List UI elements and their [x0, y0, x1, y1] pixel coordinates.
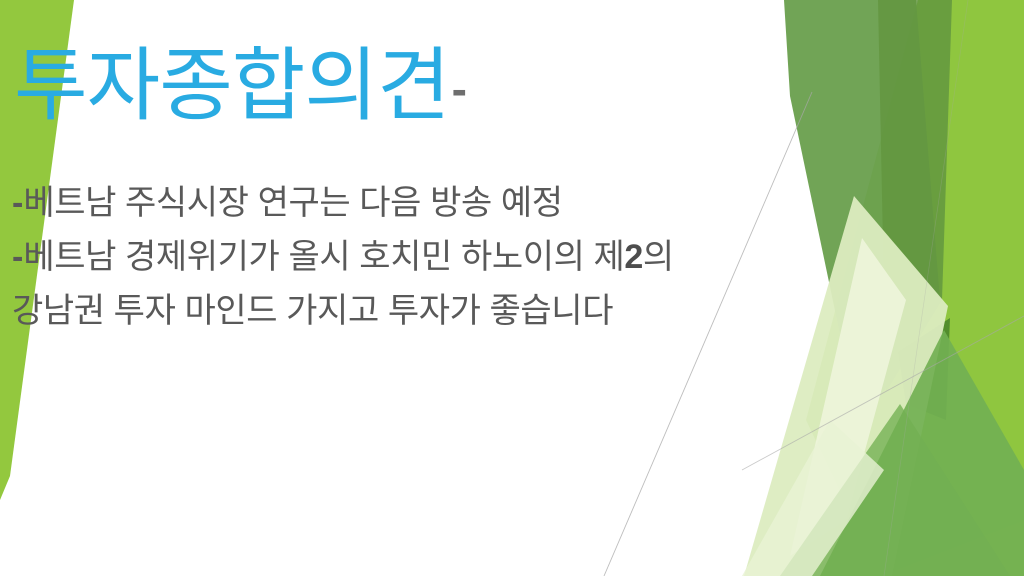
- body-line-2-text-post: 의: [643, 238, 674, 276]
- body-line-3-text: 강남권 투자 마인드 가지고 투자가 좋습니다: [12, 292, 613, 330]
- slide-body: -베트남 주식시장 연구는 다음 방송 예정 -베트남 경제위기가 올시 호치민…: [12, 176, 892, 338]
- slide-title-line: 투자종합의견-: [14, 46, 467, 126]
- title-trailing-dash: -: [452, 66, 467, 112]
- body-line-2-number: 2: [624, 238, 643, 276]
- presentation-slide: 투자종합의견- -베트남 주식시장 연구는 다음 방송 예정 -베트남 경제위기…: [0, 0, 1024, 576]
- body-line-1-text: 베트남 주식시장 연구는 다음 방송 예정: [23, 184, 562, 222]
- bullet-dash-1: -: [12, 184, 23, 222]
- body-line-2: -베트남 경제위기가 올시 호치민 하노이의 제2의: [12, 230, 892, 284]
- dark-green-notch: [898, 318, 950, 420]
- body-line-2-text-pre: 베트남 경제위기가 올시 호치민 하노이의 제: [23, 238, 624, 276]
- body-line-1: -베트남 주식시장 연구는 다음 방송 예정: [12, 176, 892, 230]
- page-title: 투자종합의견: [14, 41, 450, 130]
- slide-content: 투자종합의견- -베트남 주식시장 연구는 다음 방송 예정 -베트남 경제위기…: [0, 0, 900, 576]
- bullet-dash-2: -: [12, 238, 23, 276]
- body-line-3: 강남권 투자 마인드 가지고 투자가 좋습니다: [12, 284, 892, 338]
